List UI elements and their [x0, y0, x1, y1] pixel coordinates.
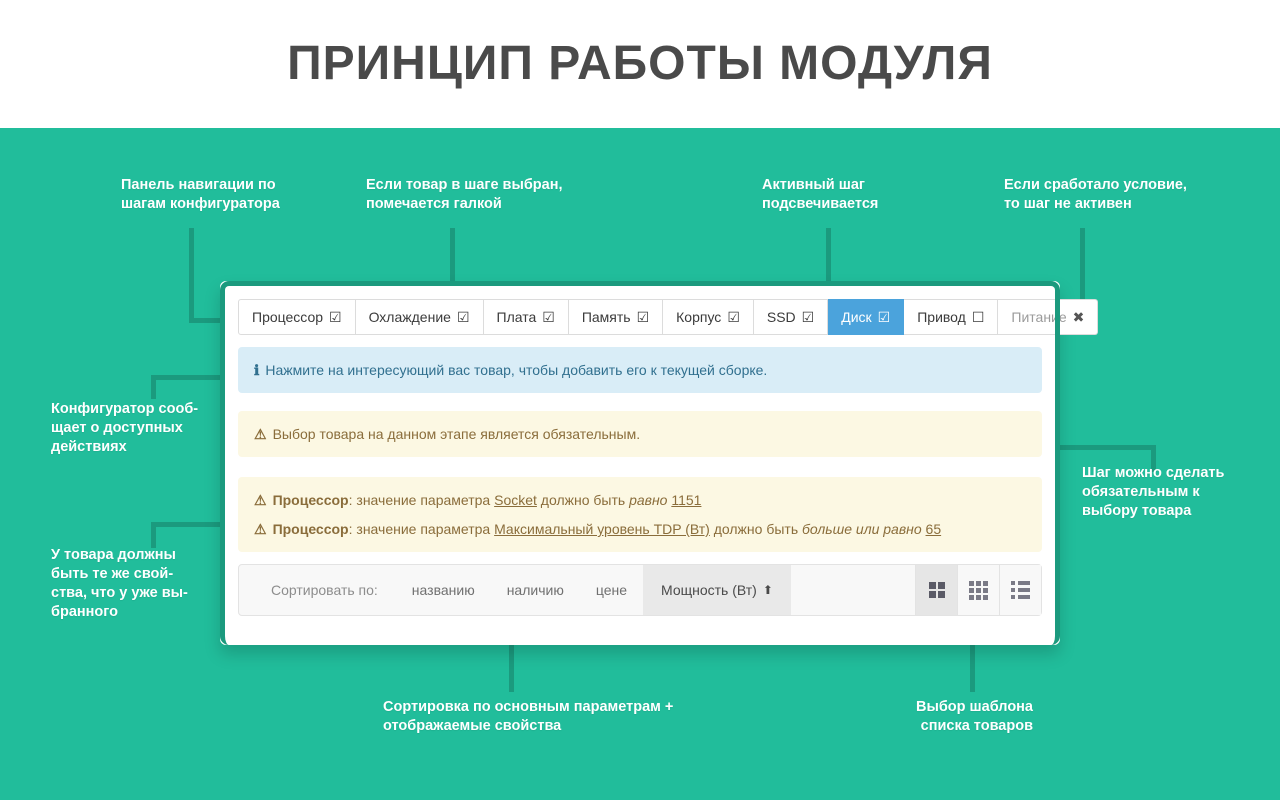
condition-value-link[interactable]: 1151: [671, 492, 701, 508]
checkbox-checked-icon: ☑: [457, 310, 470, 324]
warning-triangle-icon: ⚠: [254, 521, 267, 537]
tab-label: Диск: [841, 310, 871, 324]
checkbox-empty-icon: ☐: [972, 310, 985, 324]
warning-triangle-icon: ⚠: [254, 492, 267, 508]
tab-label: Привод: [917, 310, 966, 324]
sort-bar-spacer: [791, 565, 915, 615]
callout-checked-step: Если товар в шаге выбран, помечается гал…: [366, 176, 563, 214]
checkbox-checked-icon: ☑: [542, 310, 555, 324]
grid-3-view-button[interactable]: [957, 565, 999, 615]
tab-label: Корпус: [676, 310, 721, 324]
condition-text-1: : значение параметра: [349, 492, 494, 508]
sort-option-power-label: Мощность (Вт): [661, 582, 757, 598]
sort-option-availability[interactable]: наличию: [491, 565, 580, 615]
callout-same-props: У товара должны быть те же свой- ства, ч…: [51, 546, 188, 622]
grid-2-icon: [929, 582, 945, 598]
condition-text-2: должно быть: [537, 492, 629, 508]
checkbox-checked-icon: ☑: [637, 310, 650, 324]
checkbox-checked-icon: ☑: [727, 310, 740, 324]
info-circle-icon: ℹ: [254, 362, 259, 378]
sort-option-price[interactable]: цене: [580, 565, 643, 615]
sort-asc-icon: ⬆: [763, 583, 773, 597]
callout-condition-step: Если сработало условие, то шаг не активе…: [1004, 176, 1187, 214]
tab-label: Охлаждение: [369, 310, 451, 324]
condition-param-link[interactable]: Socket: [494, 492, 537, 508]
tab-cooling[interactable]: Охлаждение☑: [356, 299, 484, 335]
sort-by-label: Сортировать по:: [239, 565, 396, 615]
sort-option-power[interactable]: Мощность (Вт) ⬆: [643, 565, 791, 615]
list-view-button[interactable]: [999, 565, 1041, 615]
page-title: ПРИНЦИП РАБОТЫ МОДУЛЯ: [0, 36, 1280, 91]
callout-configurator-msg: Конфигуратор сооб- щает о доступных дейс…: [51, 400, 198, 457]
tab-label: SSD: [767, 310, 796, 324]
sort-option-name[interactable]: названию: [396, 565, 491, 615]
condition-operator: больше или равно: [802, 521, 922, 537]
tab-power: Питание✖: [998, 299, 1098, 335]
cross-icon: ✖: [1073, 310, 1085, 324]
tab-memory[interactable]: Память☑: [569, 299, 663, 335]
tab-motherboard[interactable]: Плата☑: [484, 299, 569, 335]
sort-bar: Сортировать по: названию наличию цене Мо…: [238, 564, 1042, 616]
grid-2-view-button[interactable]: [915, 565, 957, 615]
warning-triangle-icon: ⚠: [254, 426, 267, 442]
checkbox-checked-icon: ☑: [802, 310, 815, 324]
tab-label: Питание: [1011, 310, 1066, 324]
tab-drive[interactable]: Привод☐: [904, 299, 998, 335]
slide-root: ПРИНЦИП РАБОТЫ МОДУЛЯ Панель навигации п…: [0, 0, 1280, 800]
condition-row: ⚠Процессор: значение параметра Socket до…: [254, 490, 1026, 510]
callout-sorting: Сортировка по основным параметрам + отоб…: [383, 698, 673, 736]
condition-operator: равно: [629, 492, 667, 508]
checkbox-checked-icon: ☑: [329, 310, 342, 324]
header-band: ПРИНЦИП РАБОТЫ МОДУЛЯ: [0, 0, 1280, 128]
alert-required: ⚠Выбор товара на данном этапе является о…: [238, 411, 1042, 457]
condition-component: Процессор: [273, 521, 349, 537]
configurator-card: Процессор☑ Охлаждение☑ Плата☑ Память☑ Ко…: [220, 281, 1060, 645]
tab-processor[interactable]: Процессор☑: [238, 299, 356, 335]
condition-text-1: : значение параметра: [349, 521, 494, 537]
connector-nav-vertical: [189, 228, 194, 323]
condition-component: Процессор: [273, 492, 349, 508]
tab-label: Плата: [497, 310, 537, 324]
condition-param-link[interactable]: Максимальный уровень TDP (Вт): [494, 521, 710, 537]
tab-ssd[interactable]: SSD☑: [754, 299, 828, 335]
alert-required-text: Выбор товара на данном этапе является об…: [273, 426, 641, 442]
alert-info: ℹНажмите на интересующий вас товар, чтоб…: [238, 347, 1042, 393]
step-tabs: Процессор☑ Охлаждение☑ Плата☑ Память☑ Ко…: [238, 299, 1042, 335]
checkbox-checked-icon: ☑: [878, 310, 891, 324]
condition-value-link[interactable]: 65: [926, 521, 942, 537]
callout-nav-panel: Панель навигации по шагам конфигуратора: [121, 176, 280, 214]
list-icon: [1011, 581, 1030, 599]
tab-label: Память: [582, 310, 631, 324]
tab-disk[interactable]: Диск☑: [828, 299, 904, 335]
callout-required-step: Шаг можно сделать обязательным к выбору …: [1082, 464, 1224, 521]
condition-text-2: должно быть: [710, 521, 802, 537]
callout-active-step: Активный шаг подсвечивается: [762, 176, 878, 214]
tab-case[interactable]: Корпус☑: [663, 299, 754, 335]
condition-row: ⚠Процессор: значение параметра Максималь…: [254, 519, 1026, 539]
grid-3-icon: [969, 581, 988, 600]
alert-conditions: ⚠Процессор: значение параметра Socket до…: [238, 477, 1042, 552]
alert-info-text: Нажмите на интересующий вас товар, чтобы…: [265, 362, 767, 378]
tab-label: Процессор: [252, 310, 323, 324]
view-mode-buttons: [915, 565, 1041, 615]
callout-view-template: Выбор шаблона списка товаров: [820, 698, 1033, 736]
